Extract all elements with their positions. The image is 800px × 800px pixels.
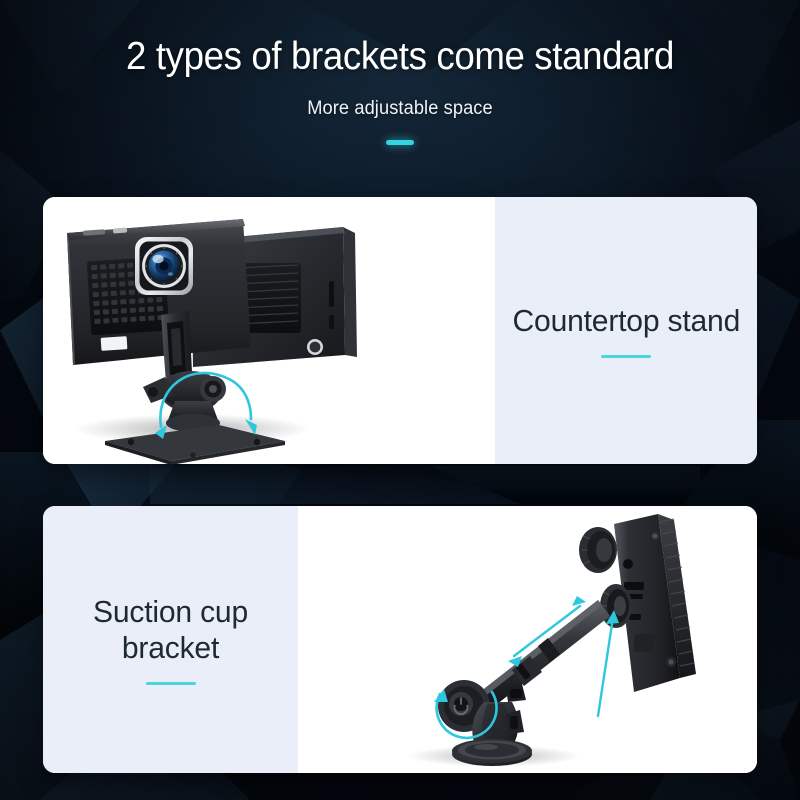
feature-card-suction-cup-bracket: Suction cup bracket: [43, 506, 757, 773]
suction-cup-bracket-illustration: [298, 506, 757, 773]
card-title-suction-cup-bracket: Suction cup bracket: [47, 594, 294, 666]
page-subtitle: More adjustable space: [16, 97, 784, 121]
countertop-stand-illustration: [43, 197, 495, 464]
product-feature-banner: 2 types of brackets come standard More a…: [0, 0, 800, 800]
cyan-underline-rule-icon: [601, 355, 651, 358]
product-photo-countertop-stand: Reversible screen angle: [43, 197, 495, 464]
feature-card-countertop-stand: Reversible screen angle Countertop stand: [43, 197, 757, 464]
cyan-underline-rule-icon: [146, 682, 196, 685]
card-text-panel-countertop: Countertop stand: [495, 197, 757, 464]
card-title-countertop-stand: Countertop stand: [506, 303, 745, 339]
page-title: 2 types of brackets come standard: [24, 34, 776, 80]
product-photo-suction-cup-bracket: scalable length 270° rotation Free to sp…: [298, 506, 757, 773]
banner-header: 2 types of brackets come standard More a…: [0, 34, 800, 145]
card-text-panel-suction: Suction cup bracket: [43, 506, 298, 773]
cyan-divider-rule-icon: [386, 140, 414, 145]
